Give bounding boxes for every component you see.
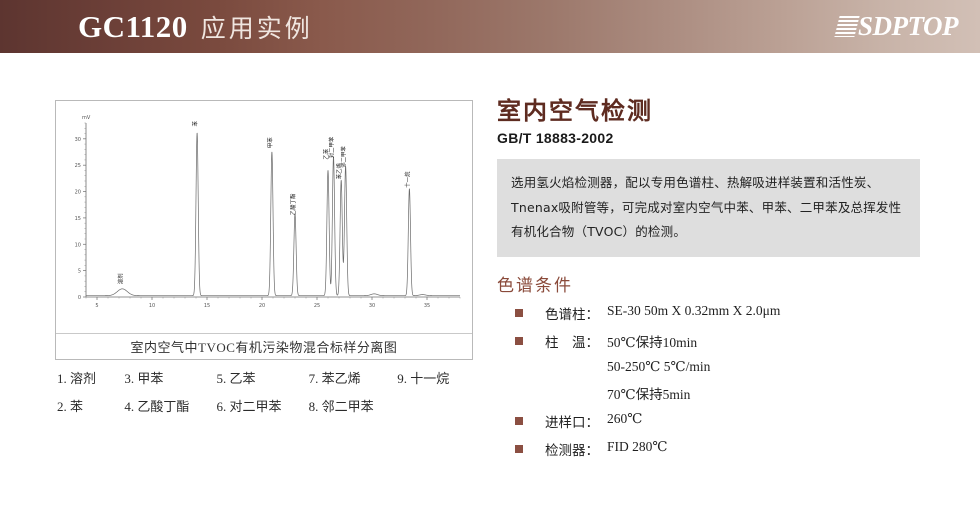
condition-row: 进样口：260℃ — [497, 411, 927, 431]
svg-text:15: 15 — [204, 303, 210, 309]
legend-item: 9. 十一烷 — [397, 368, 477, 387]
svg-text:25: 25 — [314, 303, 320, 309]
legend-item: 4. 乙酸丁酯 — [124, 396, 216, 415]
svg-text:mV: mV — [82, 115, 91, 121]
svg-text:25: 25 — [75, 163, 81, 169]
legend-item — [397, 396, 477, 415]
condition-label: 检测器： — [545, 439, 607, 459]
legend-item: 6. 对二甲苯 — [217, 396, 309, 415]
condition-value: 260℃ — [607, 411, 642, 427]
svg-text:30: 30 — [75, 137, 81, 143]
bullet-square-icon — [515, 337, 523, 345]
svg-text:乙酸丁酯: 乙酸丁酯 — [289, 193, 297, 215]
condition-row: 色谱柱：SE-30 50m X 0.32mm X 2.0μm — [497, 303, 927, 323]
brand-name: SDPTOP — [858, 11, 958, 42]
svg-text:20: 20 — [259, 303, 265, 309]
svg-text:苯: 苯 — [191, 120, 199, 126]
page-subtitle: 应用实例 — [201, 14, 313, 43]
standard-code: GB/T 18883-2002 — [497, 130, 927, 146]
chart-peak-labels: 溶剂苯甲苯乙酸丁酯乙苯对二甲苯苯乙烯邻二甲苯十一烷 — [116, 120, 411, 284]
bullet-square-icon — [515, 445, 523, 453]
svg-text:5: 5 — [95, 303, 98, 309]
svg-text:邻二甲苯: 邻二甲苯 — [340, 146, 348, 168]
chart-trace — [86, 133, 460, 296]
svg-text:0: 0 — [78, 295, 81, 301]
svg-text:对二甲苯: 对二甲苯 — [328, 136, 336, 158]
chromatogram-plot: mV0510152025305101520253035 溶剂苯甲苯乙酸丁酯乙苯对… — [64, 109, 464, 321]
legend-row: 1. 溶剂 3. 甲苯 5. 乙苯 7. 苯乙烯 9. 十一烷 — [57, 368, 477, 387]
condition-value: SE-30 50m X 0.32mm X 2.0μm — [607, 303, 780, 319]
section-title: 室内空气检测 — [497, 98, 927, 124]
condition-subvalue: 70℃保持5min — [607, 383, 927, 403]
page-header: GC1120应用实例 SDPTOP — [0, 0, 980, 53]
svg-text:35: 35 — [424, 303, 430, 309]
legend-item: 2. 苯 — [57, 396, 124, 415]
condition-label: 进样口： — [545, 411, 607, 431]
svg-text:20: 20 — [75, 190, 81, 196]
bullet-square-icon — [515, 309, 523, 317]
details-panel: 室内空气检测 GB/T 18883-2002 选用氢火焰检测器，配以专用色谱柱、… — [497, 98, 927, 467]
svg-text:30: 30 — [369, 303, 375, 309]
legend-item: 8. 邻二甲苯 — [309, 396, 398, 415]
condition-label: 柱 温： — [545, 331, 607, 351]
legend-item: 3. 甲苯 — [124, 368, 216, 387]
chart-caption: 室内空气中TVOC有机污染物混合标样分离图 — [56, 333, 472, 359]
svg-text:甲苯: 甲苯 — [266, 137, 274, 148]
condition-subvalue: 50-250℃ 5℃/min — [607, 359, 927, 375]
condition-value: 50℃保持10min — [607, 331, 697, 351]
product-code: GC1120 — [78, 9, 188, 44]
chromatogram-svg: mV0510152025305101520253035 溶剂苯甲苯乙酸丁酯乙苯对… — [64, 109, 464, 321]
peak-legend: 1. 溶剂 3. 甲苯 5. 乙苯 7. 苯乙烯 9. 十一烷 2. 苯 4. … — [57, 368, 477, 424]
svg-text:溶剂: 溶剂 — [116, 273, 124, 284]
conditions-title: 色谱条件 — [497, 271, 927, 296]
svg-text:15: 15 — [75, 216, 81, 222]
legend-item: 7. 苯乙烯 — [309, 368, 398, 387]
speed-lines-icon — [834, 16, 859, 37]
svg-text:10: 10 — [149, 303, 155, 309]
svg-text:10: 10 — [75, 242, 81, 248]
condition-label: 色谱柱： — [545, 303, 607, 323]
conditions-list: 色谱柱：SE-30 50m X 0.32mm X 2.0μm柱 温：50℃保持1… — [497, 303, 927, 459]
chromatogram-card: mV0510152025305101520253035 溶剂苯甲苯乙酸丁酯乙苯对… — [55, 100, 473, 360]
legend-row: 2. 苯 4. 乙酸丁酯 6. 对二甲苯 8. 邻二甲苯 — [57, 396, 477, 415]
condition-value: FID 280℃ — [607, 439, 667, 455]
condition-row: 检测器：FID 280℃ — [497, 439, 927, 459]
description-box: 选用氢火焰检测器，配以专用色谱柱、热解吸进样装置和活性炭、Tnenax吸附管等，… — [497, 159, 920, 256]
legend-item: 1. 溶剂 — [57, 368, 124, 387]
svg-text:5: 5 — [78, 269, 81, 275]
brand-logo: SDPTOP — [837, 11, 958, 41]
page-title: GC1120应用实例 — [78, 4, 313, 53]
svg-text:十一烷: 十一烷 — [403, 171, 411, 188]
bullet-square-icon — [515, 417, 523, 425]
condition-row: 柱 温：50℃保持10min — [497, 331, 927, 351]
legend-item: 5. 乙苯 — [217, 368, 309, 387]
